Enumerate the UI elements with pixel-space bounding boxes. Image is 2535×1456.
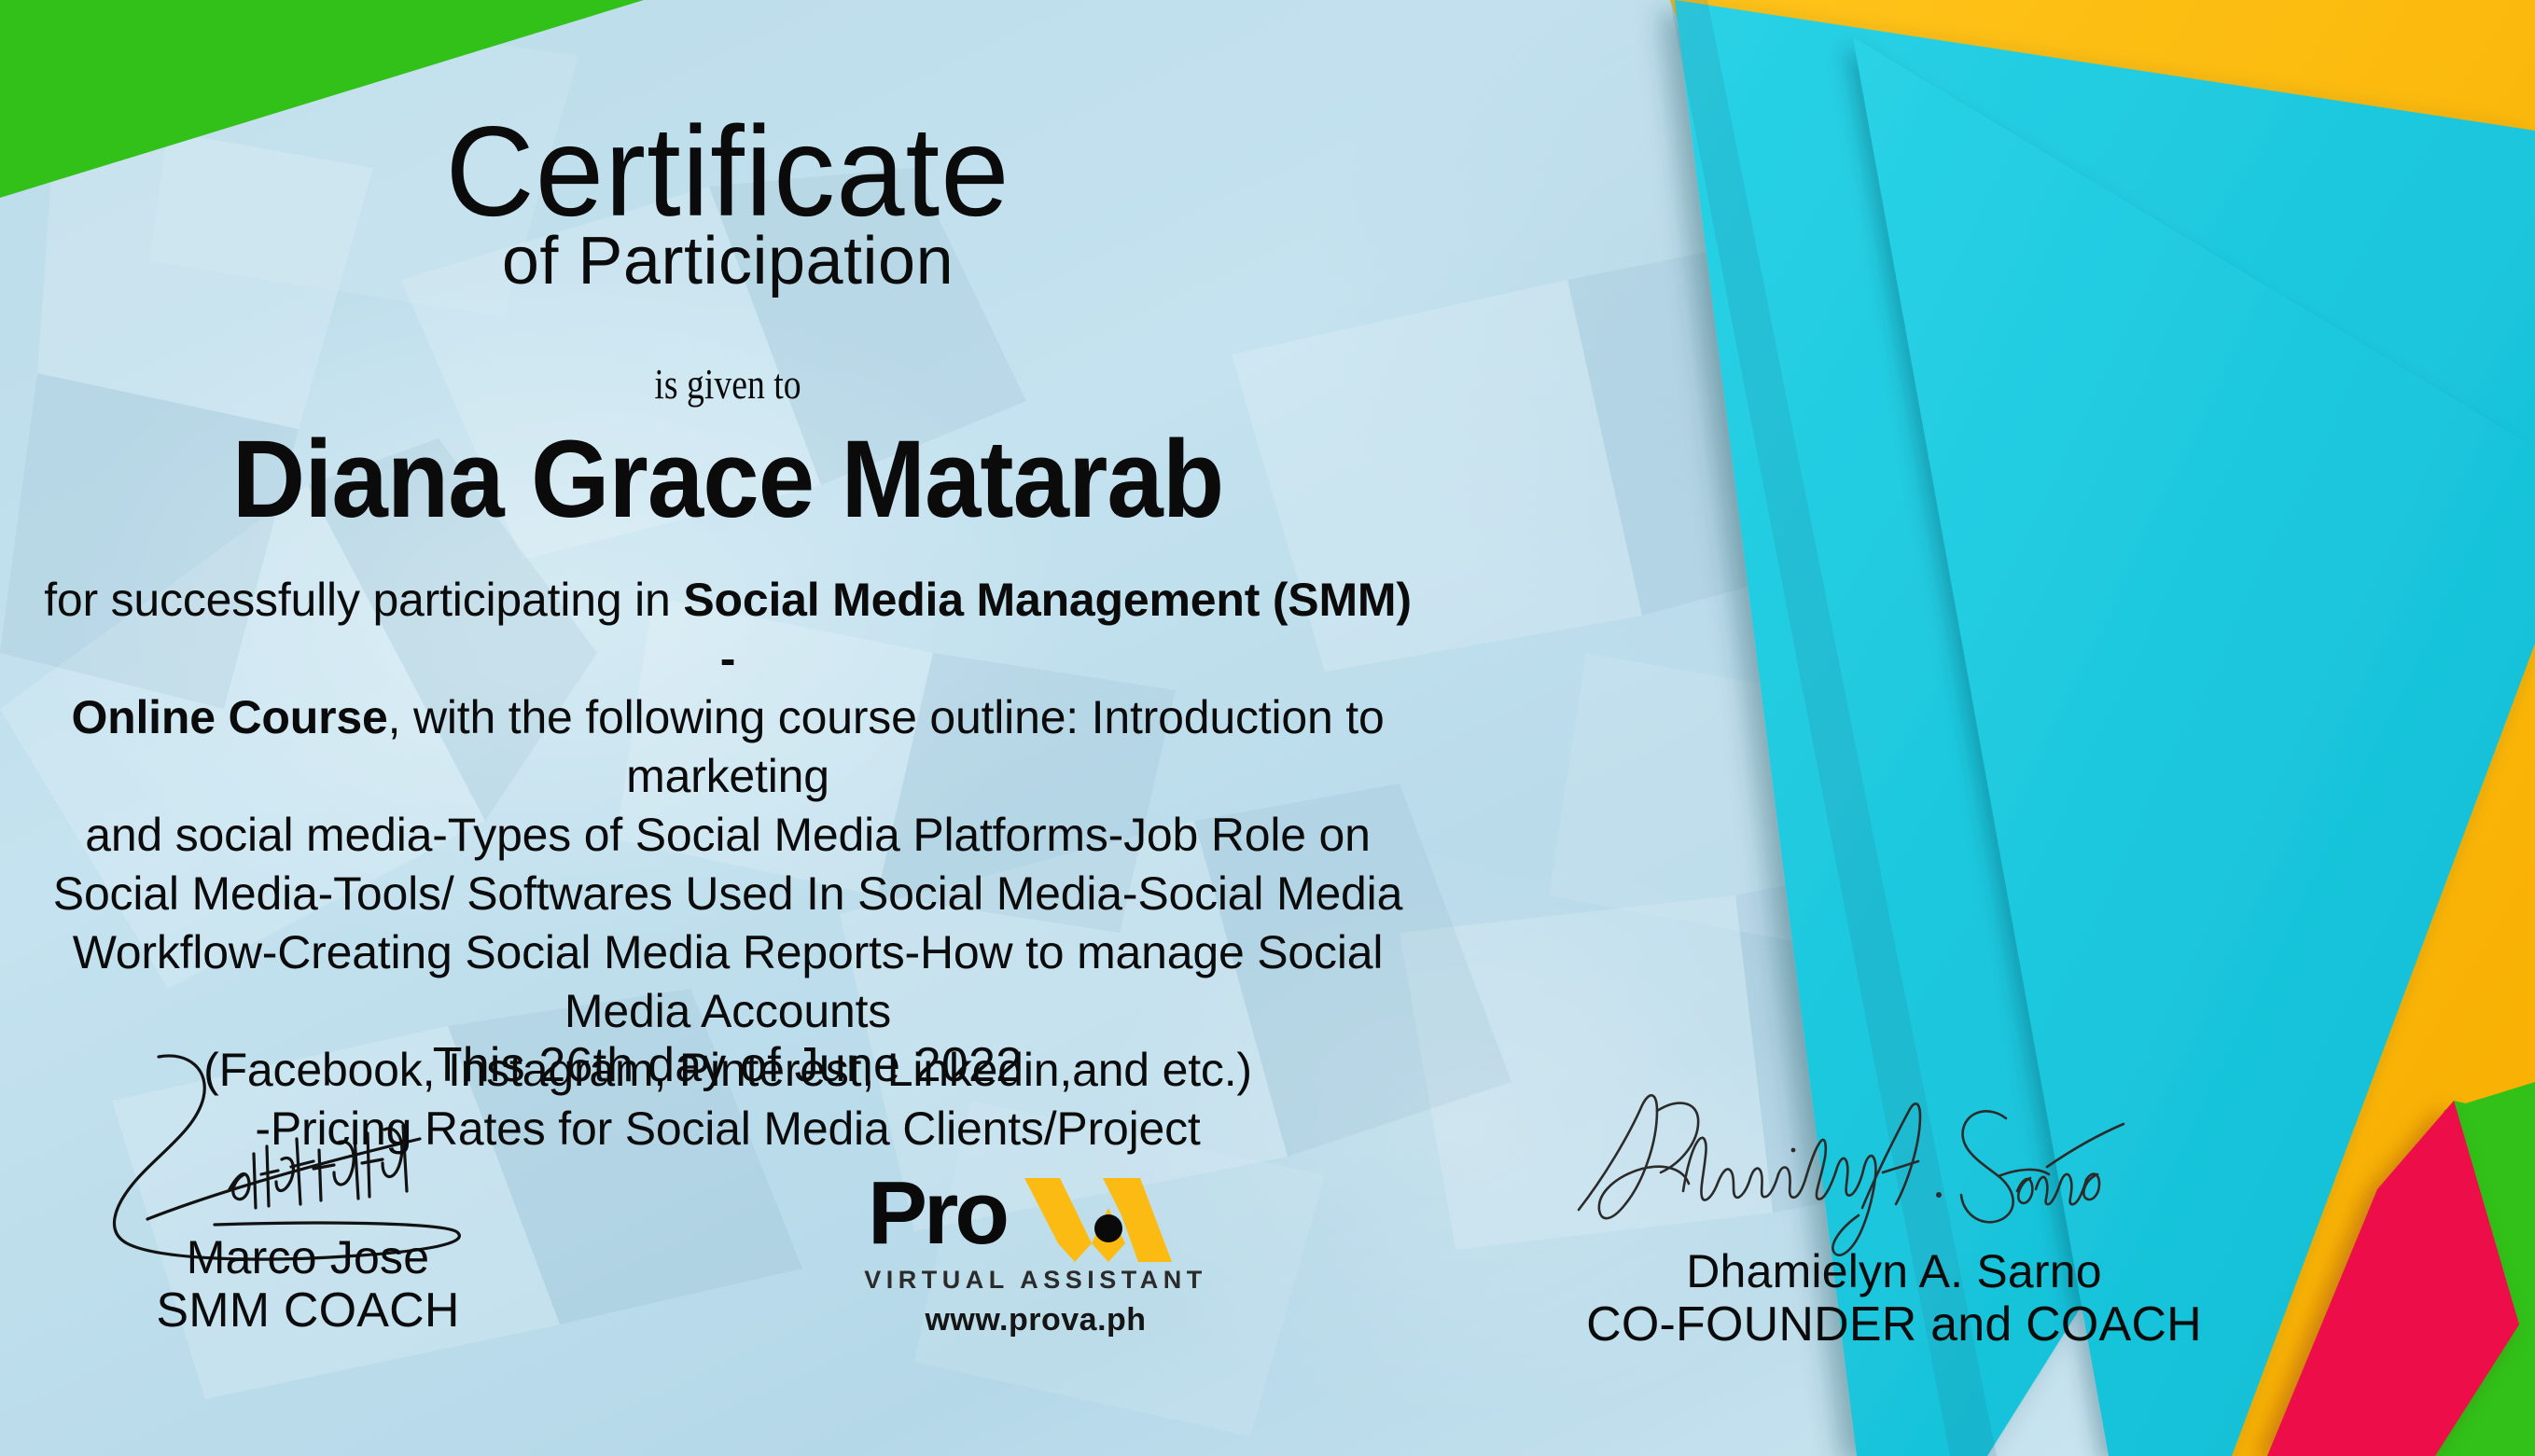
prova-wordmark-icon: Pro (849, 1171, 1222, 1264)
body-line-text-4: Workflow-Creating Social Media Reports-H… (73, 926, 1384, 1037)
signature-role: CO-FOUNDER and COACH (1474, 1297, 2314, 1352)
prova-logo: Pro VIRTUAL ASSISTANT www.prova.ph (849, 1171, 1222, 1338)
signature-name: Dhamielyn A. Sarno (1474, 1245, 2314, 1297)
body-line-text-1: Online Course, with the following course… (71, 691, 1384, 802)
body-line: Workflow-Creating Social Media Reports-H… (37, 923, 1418, 1041)
given-to-label: is given to (131, 359, 1324, 409)
page-title: Certificate (0, 107, 1456, 235)
body-line-text-3: Social Media-Tools/ Softwares Used In So… (53, 867, 1402, 920)
signature-block-right: Dhamielyn A. Sarno CO-FOUNDER and COACH (1474, 1133, 2314, 1352)
recipient-name: Diana Grace Matarab (58, 424, 1397, 534)
prova-website-url[interactable]: www.prova.ph (849, 1302, 1222, 1338)
body-line: -Pricing Rates for Social Media Clients/… (37, 1100, 1418, 1158)
svg-text:Pro: Pro (868, 1171, 1006, 1263)
issue-date: This 26th day of June 2022 (0, 1037, 1456, 1093)
body-line: and social media-Types of Social Media P… (37, 806, 1418, 865)
body-line: Online Course, with the following course… (37, 688, 1418, 806)
body-line-text-2: and social media-Types of Social Media P… (85, 809, 1371, 861)
body-line: Social Media-Tools/ Softwares Used In So… (37, 865, 1418, 923)
handwritten-signature-icon (1474, 1133, 2314, 1245)
body-line-text-6: -Pricing Rates for Social Media Clients/… (255, 1102, 1200, 1155)
page-subtitle: of Participation (0, 228, 1456, 295)
prova-tagline: VIRTUAL ASSISTANT (849, 1266, 1222, 1295)
certificate-canvas: Certificate of Participation is given to… (0, 0, 2535, 1456)
certificate-content: Certificate of Participation is given to… (0, 0, 1456, 1456)
body-line-text-0: for successfully participating in Social… (44, 574, 1412, 685)
body-line: for successfully participating in Social… (37, 571, 1418, 688)
